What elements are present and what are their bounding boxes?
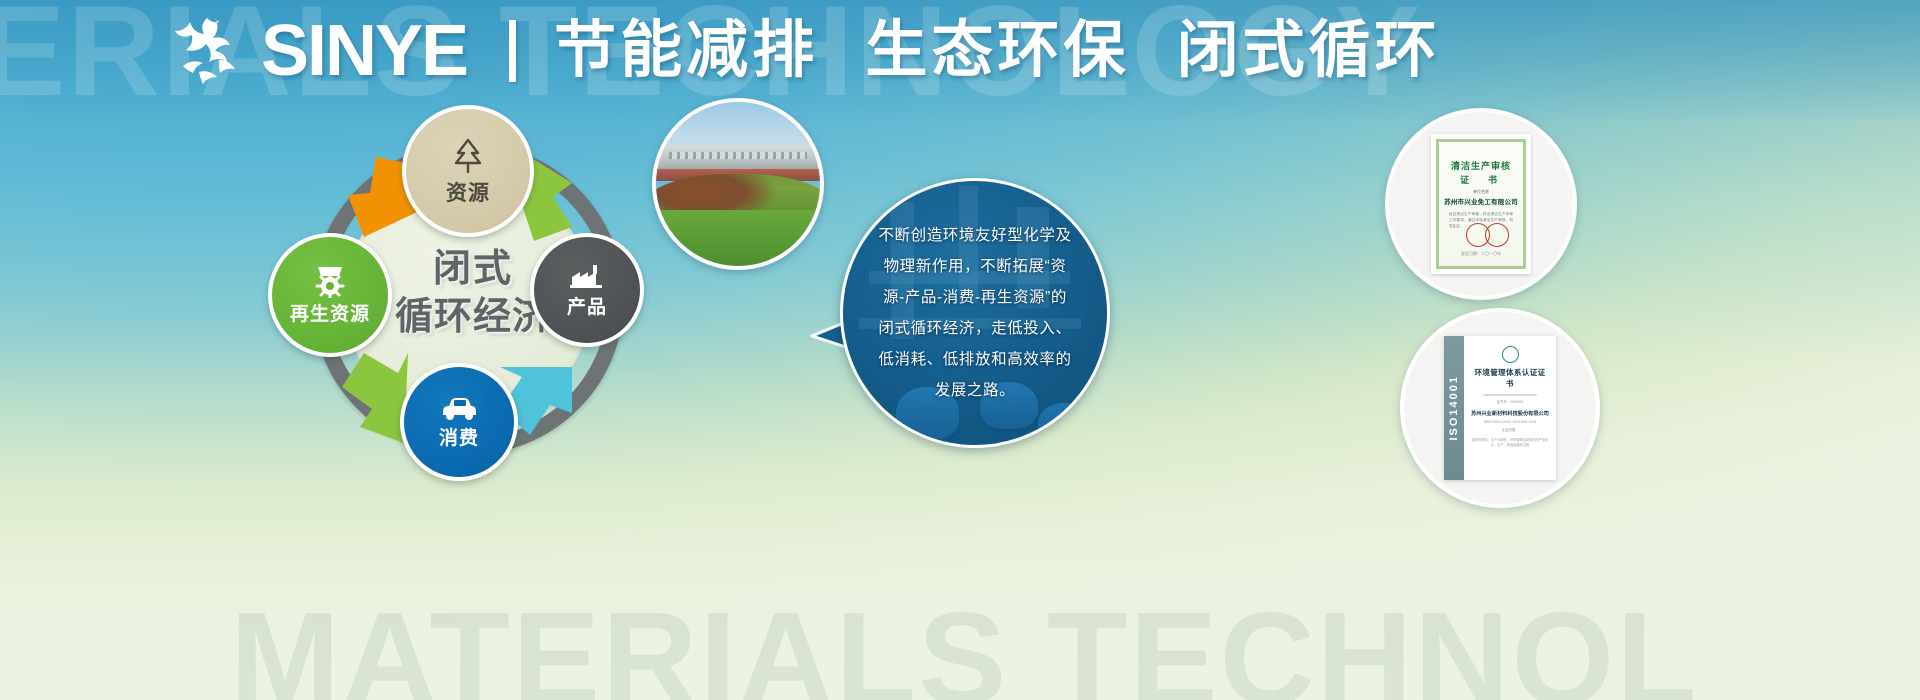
promo-banner: ERIALS TECHNOLOGY MATERIALS TECHNOL SINY…	[0, 0, 1920, 700]
iso-spine-text: ISO14001	[1448, 375, 1460, 441]
statement-speech-bubble: 不断创造环境友好型化学及物理新作用，不断拓展“资源-产品-消费-再生资源”的闭式…	[810, 178, 1110, 478]
brand-wordmark: SINYE	[261, 14, 467, 88]
clean-production-document: 清洁生产审核 证 书 单位名称 苏州市兴业免工有限公司 经过清洁生产审核，符合清…	[1431, 134, 1531, 274]
iso-company: 苏州兴业新材料科技股份有限公司	[1471, 410, 1549, 417]
slogan-part-2: 生态环保	[865, 16, 1129, 85]
watermark-text-bottom: MATERIALS TECHNOL	[230, 583, 1699, 700]
tree-icon	[447, 136, 489, 176]
node-label-resource: 资源	[446, 177, 490, 207]
slogan-part-1: 节能减排	[554, 16, 818, 85]
splash-plant-icon	[175, 14, 251, 88]
bubble-body: 不断创造环境友好型化学及物理新作用，不断拓展“资源-产品-消费-再生资源”的闭式…	[840, 178, 1110, 448]
iso14001-document: ISO14001 环境管理体系认证证书 证书号：0000000 苏州兴业新材料科…	[1444, 336, 1556, 480]
photo-buildings	[656, 145, 820, 171]
slogan-part-3: 闭式循环	[1177, 16, 1441, 85]
certificate-clean-production[interactable]: 清洁生产审核 证 书 单位名称 苏州市兴业免工有限公司 经过清洁生产审核，符合清…	[1385, 108, 1577, 300]
closed-loop-economy-diagram: 闭式 循环经济 资源	[272, 105, 662, 495]
cnas-emblem-icon	[1502, 346, 1519, 363]
iso-standard: GB/T24001-2016 / ISO14001:2015	[1471, 420, 1549, 424]
cert-date: 发证日期：二〇一〇年	[1436, 251, 1526, 257]
banner-header: SINYE 节能减排 生态环保 闭式循环	[175, 14, 1441, 88]
iso-title: 环境管理体系认证证书	[1471, 367, 1549, 389]
factory-landscape-photo	[652, 98, 824, 270]
recycle-gear-icon	[311, 264, 349, 298]
car-icon	[437, 394, 481, 422]
diagram-node-consume[interactable]: 消费	[400, 363, 518, 481]
node-label-recycle: 再生资源	[290, 299, 370, 326]
factory-icon	[568, 261, 606, 291]
diagram-node-product[interactable]: 产品	[530, 233, 644, 347]
cert-subtitle: 单位名称	[1436, 189, 1526, 195]
iso-scope: 新材料研发、生产与销售，环境管理活动相关的产品设计、生产、检验及服务过程	[1471, 438, 1549, 448]
iso-page: 环境管理体系认证证书 证书号：0000000 苏州兴业新材料科技股份有限公司 G…	[1464, 336, 1556, 480]
red-seal-icon-2	[1485, 223, 1509, 247]
bubble-statement-text: 不断创造环境友好型化学及物理新作用，不断拓展“资源-产品-消费-再生资源”的闭式…	[843, 181, 1107, 445]
node-label-product: 产品	[567, 292, 607, 319]
iso-cert-no: 证书号：0000000	[1471, 399, 1549, 404]
cert-title-line2: 证 书	[1436, 173, 1526, 186]
node-label-consume: 消费	[439, 423, 479, 450]
diagram-node-resource[interactable]: 资源	[402, 105, 534, 237]
certificate-iso14001[interactable]: ISO14001 环境管理体系认证证书 证书号：0000000 苏州兴业新材料科…	[1400, 308, 1600, 508]
diagram-node-recycle[interactable]: 再生资源	[268, 233, 392, 357]
iso-spine: ISO14001	[1444, 336, 1464, 480]
photo-lawn	[656, 210, 820, 266]
cert-title-line1: 清洁生产审核	[1436, 159, 1526, 172]
headline-slogan: 节能减排 生态环保 闭式循环	[554, 16, 1441, 86]
header-divider	[509, 20, 516, 82]
iso-scope-label: 认证范围：	[1471, 427, 1549, 432]
cert-company: 苏州市兴业免工有限公司	[1436, 196, 1526, 206]
